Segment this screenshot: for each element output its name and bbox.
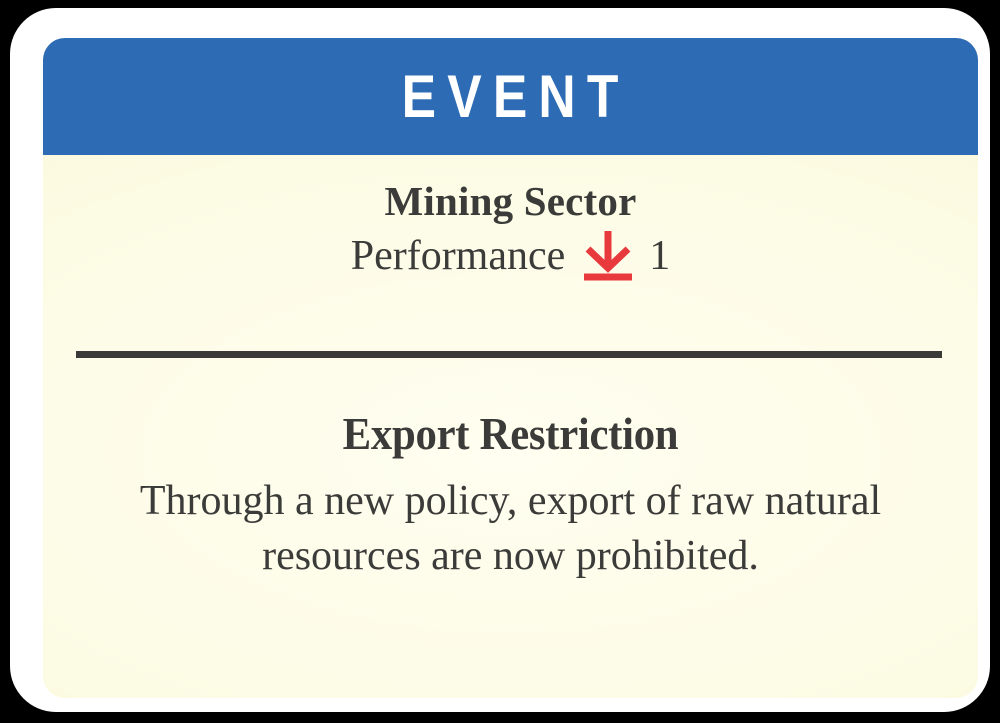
sector-stat-value: 1 [649,233,670,279]
event-title: Export Restriction [116,410,905,460]
sector-block: Mining Sector Performance 1 [43,155,978,283]
card-header-banner: EVENT [43,38,978,155]
event-card: EVENT Mining Sector Performance [43,38,978,698]
card-type-label: EVENT [391,67,630,127]
event-description: Through a new policy, export of raw natu… [116,460,906,586]
event-block: Export Restriction Through a new policy,… [43,410,978,585]
sector-name: Mining Sector [43,155,978,224]
arrow-down-to-line-icon [579,229,637,281]
section-divider [76,351,942,358]
sector-stat-label: Performance [351,233,566,279]
sector-stat-row: Performance 1 [43,229,978,283]
card-content: Mining Sector Performance 1 [43,155,978,698]
card-outer-frame: EVENT Mining Sector Performance [10,8,990,712]
